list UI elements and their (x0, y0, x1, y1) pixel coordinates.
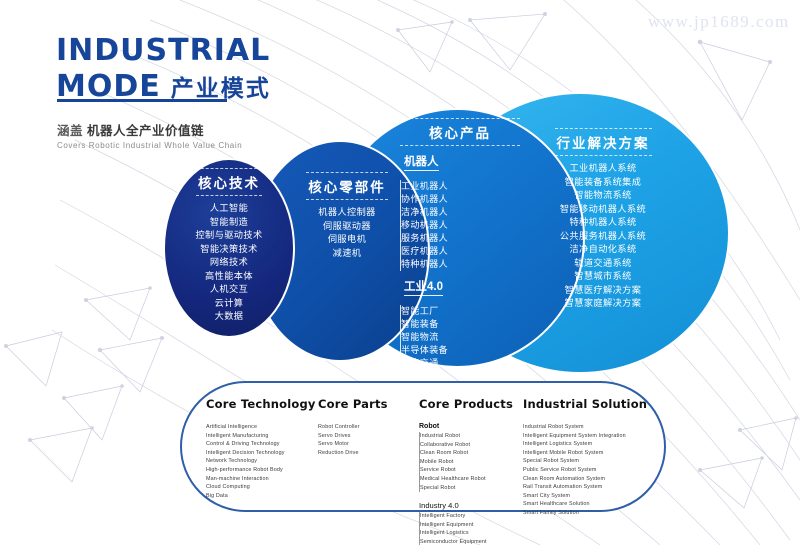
list-item: Control & Driving Technology (206, 440, 316, 449)
list-item: Industrial Robot System (523, 423, 647, 432)
list-item: Service Robot (420, 466, 513, 475)
list-item: High-performance Robot Body (206, 466, 316, 475)
legend-list-industry40: Intelligent Factory Intelligent Equipmen… (419, 512, 513, 545)
list-item: Industrial Robot (420, 432, 513, 441)
list-item: 工业机器人系统 (528, 162, 678, 176)
legend-column-core-products: Core Products Robot Industrial Robot Col… (419, 397, 513, 545)
subtitle-block: 涵盖 机器人全产业价值链 Covers Robotic Industrial W… (57, 120, 242, 150)
legend-heading-core-products: Core Products (419, 397, 513, 411)
infographic-canvas: www.jp1689.com INDUSTRIAL MODE 产业模式 涵盖 机… (0, 0, 800, 545)
legend-subgroup-title-robot: Robot (419, 423, 513, 430)
legend-column-core-parts: Core Parts Robot Controller Servo Drives… (318, 397, 388, 457)
list-item: 洁净机器人 (401, 206, 520, 219)
list-item: 智能物流系统 (528, 189, 678, 203)
list-item: 智能物流 (401, 331, 520, 344)
list-item: 智能制造 (172, 216, 286, 230)
list-item: Intelligent Factory (420, 512, 513, 521)
list-item: Cloud Computing (206, 483, 316, 492)
list-item: Medical Healthcare Robot (420, 475, 513, 484)
list-item: 智能装备系统集成 (528, 176, 678, 190)
list-item: Clean Room Robot (420, 449, 513, 458)
list-item: Intelligent Manufacturing (206, 432, 316, 441)
english-legend-panel: Core Technology Artificial Intelligence … (180, 381, 666, 512)
legend-column-core-technology: Core Technology Artificial Intelligence … (206, 397, 316, 500)
circle-group-industrial-solution: 行业解决方案 工业机器人系统 智能装备系统集成 智能物流系统 智能移动机器人系统… (528, 128, 678, 311)
list-item: 移动机器人 (401, 219, 520, 232)
list-item: Smart Healthcare Solution (523, 500, 647, 509)
list-item: Rail Transit Automation System (523, 483, 647, 492)
list-item: Clean Room Automation System (523, 475, 647, 484)
title-underline-rule (57, 99, 227, 102)
list-item: Intelligent Equipment (420, 521, 513, 530)
list-item: 人工智能 (172, 202, 286, 216)
list-item: 伺服电机 (288, 233, 406, 247)
page-title: INDUSTRIAL MODE 产业模式 (56, 36, 271, 105)
list-item: 高性能本体 (172, 270, 286, 284)
list-item: Intelligent Mobile Robot System (523, 449, 647, 458)
list-item: 智能决策技术 (172, 243, 286, 257)
legend-column-industrial-solution: Industrial Solution Industrial Robot Sys… (523, 397, 647, 518)
list-item: 特种机器人 (401, 258, 520, 271)
circle-group-core-products: 核心产品 机器人 工业机器人 协作机器人 洁净机器人 移动机器人 服务机器人 医… (400, 118, 520, 370)
list-item: Reduction Drive (318, 449, 388, 458)
legend-subgroup-title-industry40: Industry 4.0 (419, 501, 513, 510)
list-item: 洁净自动化系统 (528, 243, 678, 257)
list-item: Smart Family Solution (523, 509, 647, 518)
list-item: 服务机器人 (401, 232, 520, 245)
list-item: 协作机器人 (401, 193, 520, 206)
watermark: www.jp1689.com (648, 12, 790, 32)
list-item: 智慧家庭解决方案 (528, 297, 678, 311)
list-item: 大数据 (172, 310, 286, 324)
list-item: Robot Controller (318, 423, 388, 432)
legend-list-core-parts: Robot Controller Servo Drives Servo Moto… (318, 423, 388, 457)
subtitle-english: Covers Robotic Industrial Whole Value Ch… (57, 141, 242, 150)
legend-list-core-technology: Artificial Intelligence Intelligent Manu… (206, 423, 316, 500)
list-item: 智慧城市系统 (528, 270, 678, 284)
legend-list-robot: Industrial Robot Collaborative Robot Cle… (419, 432, 513, 492)
circle-group-core-technology: 核心技术 人工智能 智能制造 控制与驱动技术 智能决策技术 网络技术 高性能本体… (172, 168, 286, 324)
circle-list-robot: 工业机器人 协作机器人 洁净机器人 移动机器人 服务机器人 医疗机器人 特种机器… (400, 180, 520, 271)
list-item: Servo Drives (318, 432, 388, 441)
list-item: 伺服驱动器 (288, 220, 406, 234)
subtitle-chinese-lead: 涵盖 (57, 124, 83, 138)
circle-list-industry40: 智能工厂 智能装备 智能物流 半导体装备 智能交通 (400, 305, 520, 370)
list-item: 机器人控制器 (288, 206, 406, 220)
list-item: 网络技术 (172, 256, 286, 270)
list-item: 云计算 (172, 297, 286, 311)
list-item: 公共服务机器人系统 (528, 230, 678, 244)
list-item: Special Robot (420, 484, 513, 493)
legend-heading-core-parts: Core Parts (318, 397, 388, 411)
circle-heading-core-products: 核心产品 (400, 118, 520, 146)
list-item: 智能工厂 (401, 305, 520, 318)
circle-list-core-technology: 人工智能 智能制造 控制与驱动技术 智能决策技术 网络技术 高性能本体 人机交互… (172, 202, 286, 324)
list-item: 半导体装备 (401, 344, 520, 357)
circle-subgroup-title-robot: 机器人 (404, 153, 439, 171)
list-item: Big Data (206, 492, 316, 501)
circle-group-core-parts: 核心零部件 机器人控制器 伺服驱动器 伺服电机 减速机 (288, 172, 406, 260)
legend-list-industrial-solution: Industrial Robot System Intelligent Equi… (523, 423, 647, 518)
list-item: Special Robot System (523, 457, 647, 466)
list-item: 特种机器人系统 (528, 216, 678, 230)
list-item: Intelligent Decision Technology (206, 449, 316, 458)
list-item: Collaborative Robot (420, 441, 513, 450)
list-item: Servo Motor (318, 440, 388, 449)
list-item: 轨道交通系统 (528, 257, 678, 271)
list-item: 人机交互 (172, 283, 286, 297)
list-item: 智能交通 (401, 357, 520, 370)
title-line-industrial: INDUSTRIAL (56, 36, 271, 66)
circle-list-industrial-solution: 工业机器人系统 智能装备系统集成 智能物流系统 智能移动机器人系统 特种机器人系… (528, 162, 678, 311)
list-item: 减速机 (288, 247, 406, 261)
list-item: 工业机器人 (401, 180, 520, 193)
list-item: 智能装备 (401, 318, 520, 331)
legend-heading-core-technology: Core Technology (206, 397, 316, 411)
list-item: Intelligent Logistics System (523, 440, 647, 449)
list-item: Public Service Robot System (523, 466, 647, 475)
list-item: 控制与驱动技术 (172, 229, 286, 243)
circle-subgroup-title-industry40: 工业4.0 (404, 278, 443, 296)
circle-list-core-parts: 机器人控制器 伺服驱动器 伺服电机 减速机 (288, 206, 406, 260)
list-item: Mobile Robot (420, 458, 513, 467)
list-item: Intelligent Equipment System Integration (523, 432, 647, 441)
list-item: Intelligent Logistics (420, 529, 513, 538)
list-item: 智慧医疗解决方案 (528, 284, 678, 298)
circle-heading-core-technology: 核心技术 (196, 168, 262, 196)
list-item: Man-machine Interaction (206, 475, 316, 484)
circle-heading-industrial-solution: 行业解决方案 (555, 128, 652, 156)
list-item: 智能移动机器人系统 (528, 203, 678, 217)
circle-heading-core-parts: 核心零部件 (306, 172, 388, 200)
list-item: Artificial Intelligence (206, 423, 316, 432)
list-item: Smart City System (523, 492, 647, 501)
legend-heading-industrial-solution: Industrial Solution (523, 397, 647, 411)
list-item: Network Technology (206, 457, 316, 466)
list-item: Semiconductor Equipment (420, 538, 513, 545)
subtitle-chinese-main: 机器人全产业价值链 (87, 124, 204, 138)
list-item: 医疗机器人 (401, 245, 520, 258)
subtitle-chinese: 涵盖 机器人全产业价值链 (57, 120, 242, 139)
